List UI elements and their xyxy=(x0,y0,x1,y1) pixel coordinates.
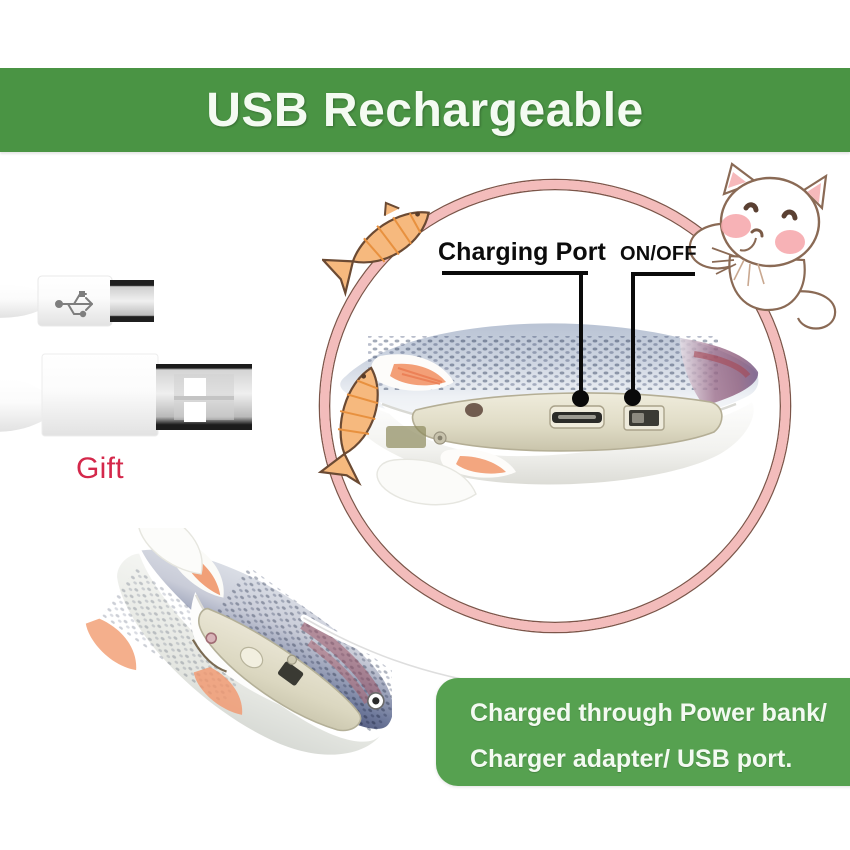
gift-label: Gift xyxy=(76,452,124,486)
on-off-leader-horizontal xyxy=(631,272,695,276)
cat-mascot-icon xyxy=(686,160,850,350)
caption-line-2: Charger adapter/ USB port. xyxy=(470,736,850,782)
on-off-leader-vertical xyxy=(631,272,635,398)
caption-box: Charged through Power bank/ Charger adap… xyxy=(436,678,850,786)
page-title: USB Rechargeable xyxy=(206,83,644,138)
product-infographic: USB Rechargeable xyxy=(0,0,850,850)
on-off-label: ON/OFF xyxy=(620,243,697,266)
usb-a-connector xyxy=(0,338,264,448)
charging-port-leader-dot xyxy=(572,390,589,407)
charging-port-leader-horizontal xyxy=(442,271,588,275)
charging-port-leader-vertical xyxy=(579,271,583,399)
on-off-leader-dot xyxy=(624,389,641,406)
micro-usb-connector xyxy=(0,262,202,332)
charging-port-label: Charging Port xyxy=(438,238,606,267)
caption-line-1: Charged through Power bank/ xyxy=(470,690,850,736)
headline-banner: USB Rechargeable xyxy=(0,68,850,152)
